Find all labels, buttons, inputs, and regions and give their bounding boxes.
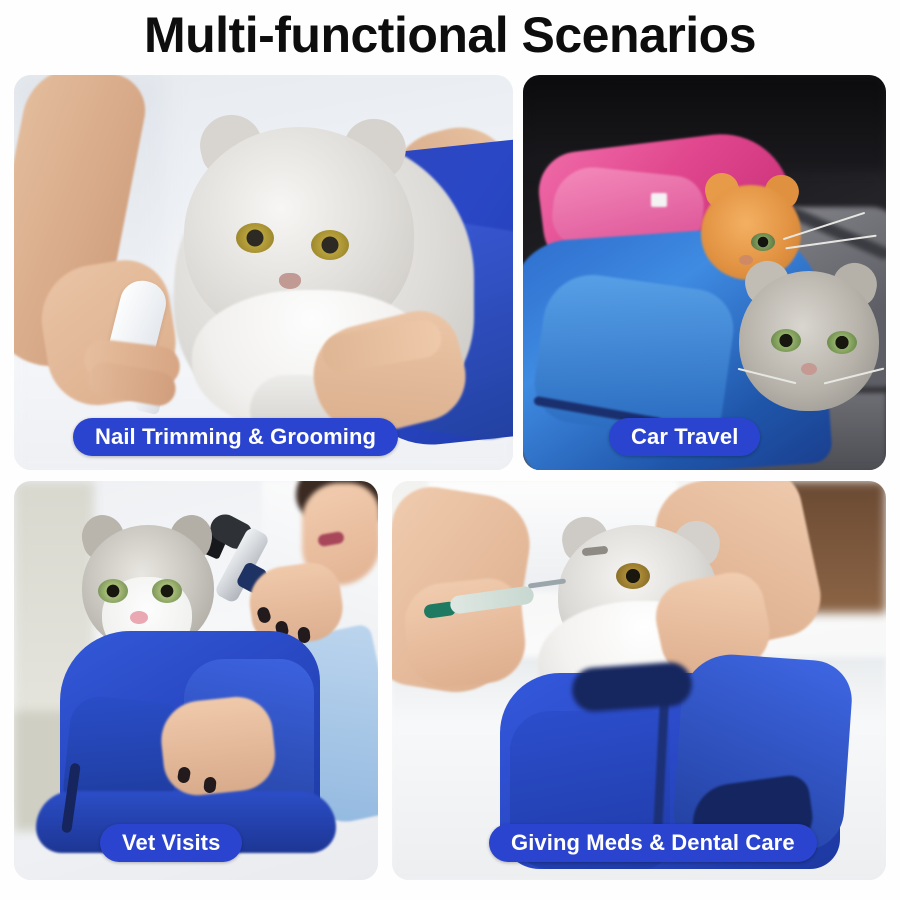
cat-eye-right	[311, 230, 349, 260]
grey-cat-head	[739, 271, 879, 411]
cat-nose	[130, 611, 148, 624]
panel-label-giving-meds: Giving Meds & Dental Care	[489, 824, 817, 862]
grey-cat-eye-left	[771, 329, 801, 352]
scene-car-travel	[523, 75, 886, 470]
cat-eye-left	[98, 579, 128, 603]
scenario-collage: Multi-functional Scenarios	[0, 0, 900, 900]
scene-giving-meds	[392, 481, 886, 880]
cat-nose	[279, 273, 301, 289]
panel-vet-visits[interactable]: Vet Visits	[14, 481, 378, 880]
cat-eye-right	[152, 579, 182, 603]
panel-label-vet-visits: Vet Visits	[100, 824, 242, 862]
panel-car-travel[interactable]: Car Travel	[523, 75, 886, 470]
scene-nail-trimming	[14, 75, 513, 470]
ginger-cat-head	[701, 185, 801, 280]
panel-label-car-travel: Car Travel	[609, 418, 760, 456]
cat-eye-left	[236, 223, 274, 253]
panel-nail-trimming[interactable]: Nail Trimming & Grooming	[14, 75, 513, 470]
ginger-cat-eye	[751, 233, 775, 251]
grey-cat-eye-right	[827, 331, 857, 354]
cat-eye	[616, 563, 650, 589]
panel-giving-meds[interactable]: Giving Meds & Dental Care	[392, 481, 886, 880]
holding-hand	[157, 693, 278, 798]
page-title: Multi-functional Scenarios	[0, 6, 900, 64]
scene-vet-visits	[14, 481, 378, 880]
panel-label-nail-trimming: Nail Trimming & Grooming	[73, 418, 398, 456]
